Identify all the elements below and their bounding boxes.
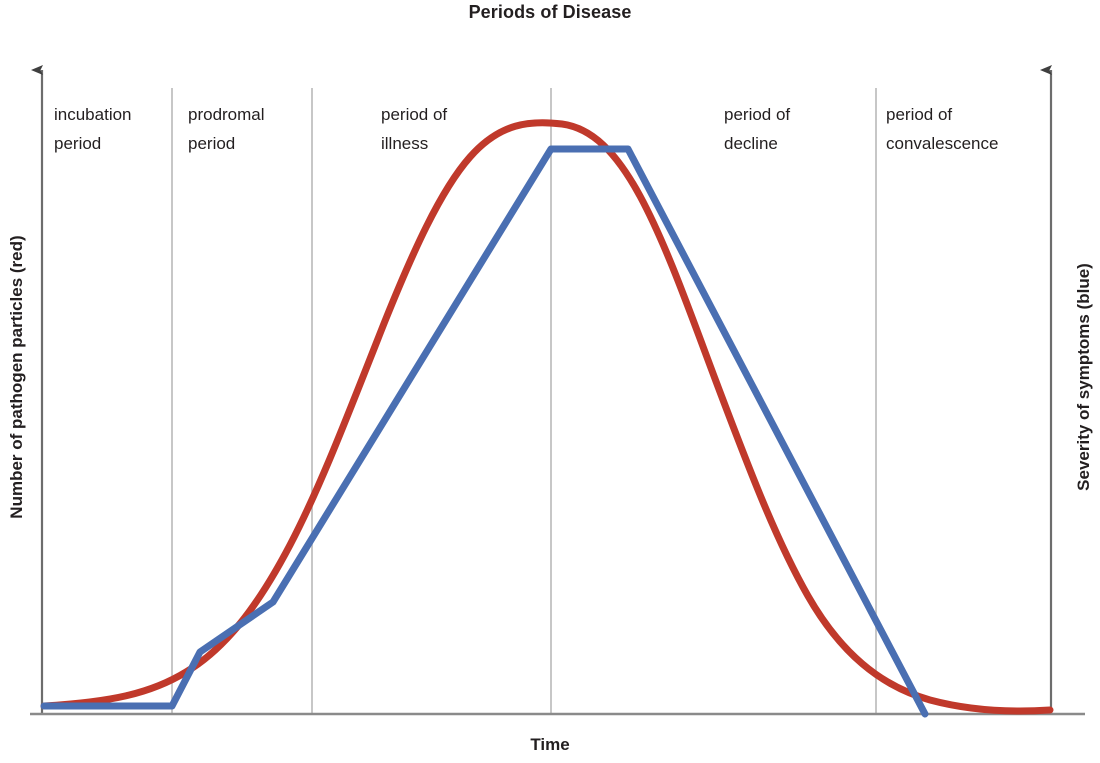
phase-label-period-of-decline: period of decline <box>724 100 872 158</box>
phase-label-period-of-illness: period of illness <box>381 100 541 158</box>
series-line-pathogen-particles <box>44 123 1050 711</box>
phase-label-period-of-convalescence: period of convalescence <box>886 100 1056 158</box>
chart-figure: Periods of Disease Number of pathogen pa… <box>0 0 1100 763</box>
series-line-symptom-severity <box>44 149 925 714</box>
phase-divider-lines <box>172 88 876 714</box>
phase-label-incubation-period: incubation period <box>54 100 166 158</box>
phase-label-prodromal-period: prodromal period <box>188 100 306 158</box>
